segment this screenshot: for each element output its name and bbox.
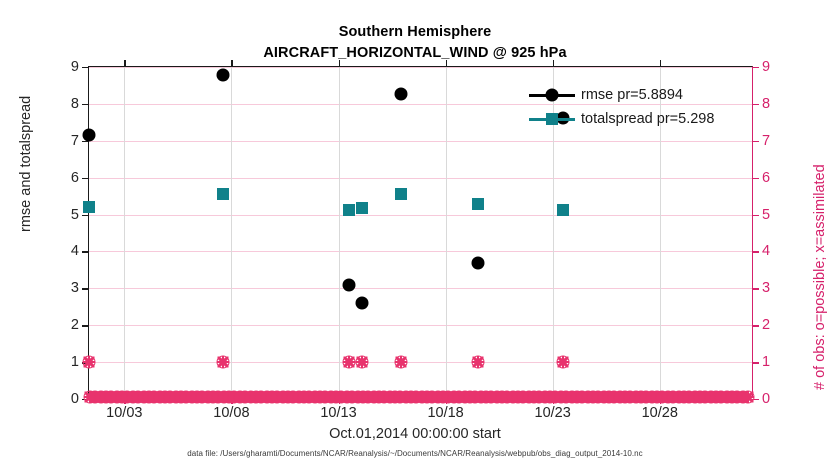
- y-tick-right: [752, 104, 759, 105]
- x-tick-top: [660, 60, 661, 67]
- gridline-v: [231, 67, 232, 397]
- y-axis-label-left: rmse and totalspread: [18, 96, 34, 232]
- gridline-h: [89, 141, 752, 142]
- y-tick-label-left: 0: [71, 391, 79, 407]
- y-tick-label-right: 3: [762, 280, 770, 296]
- legend-marker-square-icon: [546, 113, 558, 125]
- y-tick-label-left: 4: [71, 243, 79, 259]
- obs-assimilated-point: [84, 357, 95, 368]
- x-tick-label: 10/03: [106, 405, 142, 421]
- gridline-h: [89, 288, 752, 289]
- gridline-v: [446, 67, 447, 397]
- y-tick-label-right: 9: [762, 59, 770, 75]
- y-tick-label-left: 3: [71, 280, 79, 296]
- x-tick-label: 10/08: [213, 405, 249, 421]
- gridline-h: [89, 251, 752, 252]
- x-tick-label: 10/28: [642, 405, 678, 421]
- rmse-point: [471, 256, 484, 269]
- y-tick-right: [752, 67, 759, 68]
- y-tick-left: [82, 104, 89, 105]
- x-tick-top: [124, 60, 125, 67]
- y-tick-label-left: 8: [71, 96, 79, 112]
- y-tick-label-right: 0: [762, 391, 770, 407]
- x-axis-label: Oct.01,2014 00:00:00 start: [0, 426, 830, 442]
- y-axis-label-right: # of obs: o=possible; x=assimilated: [812, 164, 828, 390]
- obs-assimilated-point: [558, 357, 569, 368]
- totalspread-point: [343, 204, 355, 216]
- y-tick-label-right: 7: [762, 133, 770, 149]
- y-tick-label-left: 7: [71, 133, 79, 149]
- data-file-caption: data file: /Users/gharamti/Documents/NCA…: [0, 449, 830, 458]
- x-tick-top: [231, 60, 232, 67]
- totalspread-point: [356, 202, 368, 214]
- y-tick-label-right: 4: [762, 243, 770, 259]
- y-tick-label-left: 2: [71, 317, 79, 333]
- chart-title: Southern Hemisphere AIRCRAFT_HORIZONTAL_…: [0, 22, 830, 64]
- rmse-point: [343, 279, 356, 292]
- legend-marker-circle-icon: [546, 89, 559, 102]
- y-tick-label-left: 1: [71, 354, 79, 370]
- obs-assimilated-point: [395, 357, 406, 368]
- y-tick-left: [82, 325, 89, 326]
- y-tick-left: [82, 67, 89, 68]
- y-tick-label-right: 1: [762, 354, 770, 370]
- legend-item-totalspread[interactable]: totalspread pr=5.298: [529, 107, 744, 131]
- obs-assimilated-point: [344, 357, 355, 368]
- totalspread-point: [83, 201, 95, 213]
- gridline-h: [89, 178, 752, 179]
- y-tick-left: [82, 178, 89, 179]
- obs-assimilated-marker-icon: [743, 392, 754, 403]
- legend-item-rmse[interactable]: rmse pr=5.8894: [529, 83, 744, 107]
- y-tick-label-right: 8: [762, 96, 770, 112]
- chart-legend: rmse pr=5.8894 totalspread pr=5.298: [529, 83, 744, 131]
- y-tick-left: [82, 251, 89, 252]
- y-tick-label-right: 5: [762, 207, 770, 223]
- x-tick-top: [339, 60, 340, 67]
- obs-assimilated-point: [217, 357, 228, 368]
- gridline-h: [89, 215, 752, 216]
- y-tick-right: [752, 215, 759, 216]
- plot-area: 0123456789 0123456789 10/0310/0810/1310/…: [88, 66, 753, 398]
- x-tick-top: [553, 60, 554, 67]
- y-tick-right: [752, 141, 759, 142]
- totalspread-point: [557, 204, 569, 216]
- legend-label-totalspread: totalspread pr=5.298: [581, 107, 714, 131]
- gridline-v: [339, 67, 340, 397]
- y-tick-right: [752, 362, 759, 363]
- gridline-h: [89, 67, 752, 68]
- totalspread-point: [472, 198, 484, 210]
- totalspread-point: [395, 188, 407, 200]
- chart-title-line1: Southern Hemisphere: [0, 22, 830, 43]
- y-tick-left: [82, 215, 89, 216]
- chart-figure: Southern Hemisphere AIRCRAFT_HORIZONTAL_…: [0, 0, 830, 470]
- rmse-point: [83, 128, 96, 141]
- rmse-point: [216, 69, 229, 82]
- rmse-point: [356, 297, 369, 310]
- gridline-v: [124, 67, 125, 397]
- x-tick-top: [446, 60, 447, 67]
- y-tick-right: [752, 288, 759, 289]
- gridline-h: [89, 362, 752, 363]
- x-tick-label: 10/13: [320, 405, 356, 421]
- y-tick-right: [752, 251, 759, 252]
- gridline-h: [89, 325, 752, 326]
- obs-assimilated-point: [472, 357, 483, 368]
- rmse-point: [394, 88, 407, 101]
- y-tick-right: [752, 178, 759, 179]
- totalspread-point: [217, 188, 229, 200]
- y-tick-label-right: 2: [762, 317, 770, 333]
- y-tick-label-left: 6: [71, 170, 79, 186]
- y-tick-label-left: 5: [71, 207, 79, 223]
- y-tick-left: [82, 288, 89, 289]
- y-tick-label-left: 9: [71, 59, 79, 75]
- obs-assimilated-point: [357, 357, 368, 368]
- x-tick-label: 10/18: [427, 405, 463, 421]
- y-tick-label-right: 6: [762, 170, 770, 186]
- x-tick-label: 10/23: [535, 405, 571, 421]
- legend-label-rmse: rmse pr=5.8894: [581, 83, 683, 107]
- y-tick-right: [752, 325, 759, 326]
